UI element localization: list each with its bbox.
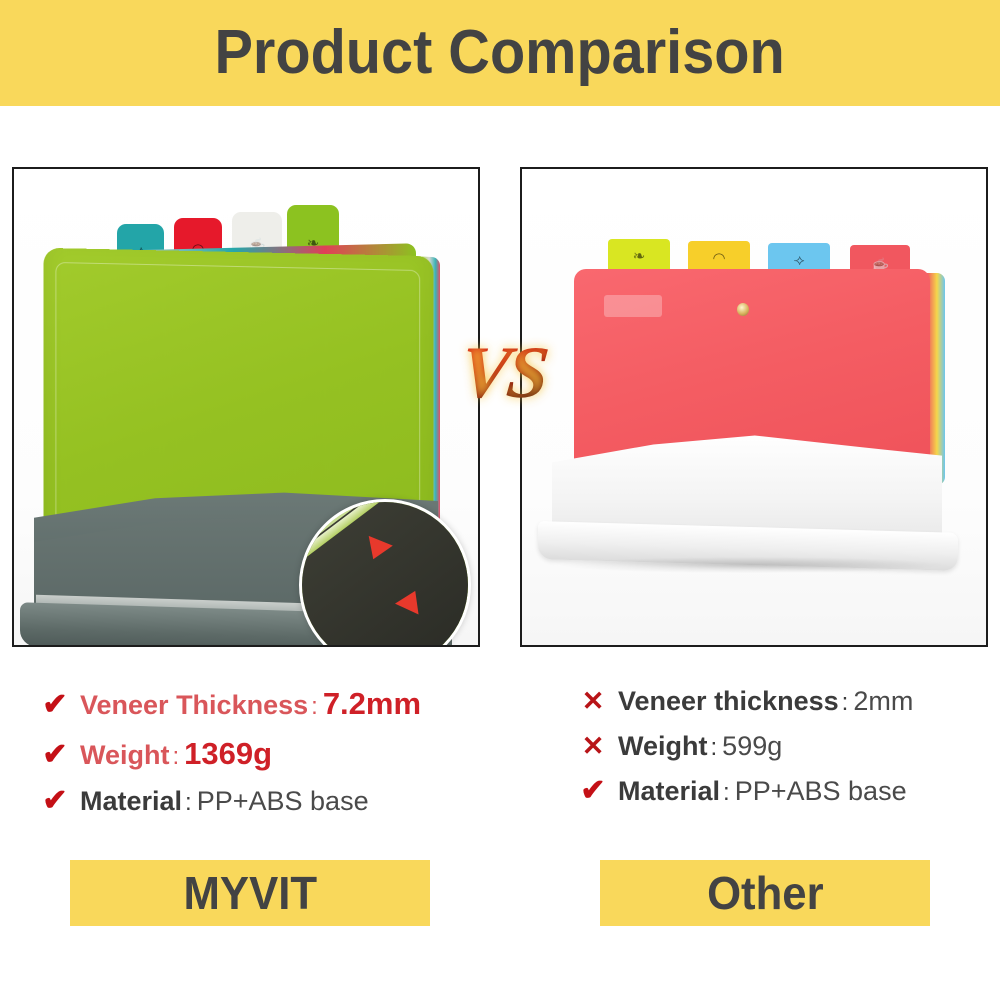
spec-label: Material: [618, 776, 720, 807]
tab-vegetable-icon-right: ❧: [608, 239, 670, 273]
cross-icon: ✕: [580, 688, 606, 715]
spec-row: ✔ Material : PP+ABS base: [42, 786, 512, 817]
spec-colon: :: [173, 743, 180, 771]
header-banner: Product Comparison: [0, 0, 1000, 106]
versus-badge: VS: [455, 318, 551, 428]
vegetable-icon: ❧: [633, 247, 646, 265]
spec-row: ✔ Veneer Thickness : 7.2mm: [42, 686, 512, 722]
spec-colon: :: [723, 779, 730, 807]
check-icon: ✔: [580, 776, 606, 806]
brand-box-other: Other: [600, 860, 930, 926]
spec-colon: :: [711, 734, 718, 762]
product-photo-left: ⟢ ◠ ☕ ❧: [12, 167, 480, 647]
spec-row: ✕ Veneer thickness : 2mm: [500, 686, 970, 717]
spec-value: PP+ABS base: [197, 786, 369, 817]
check-icon: ✔: [42, 786, 68, 816]
spec-label: Material: [80, 786, 182, 817]
photo-stage-left: ⟢ ◠ ☕ ❧: [14, 169, 478, 645]
fish-icon: ⟢: [793, 252, 804, 269]
spec-label: Weight: [80, 740, 170, 771]
spec-label: Veneer thickness: [618, 686, 839, 717]
spec-row: ✔ Material : PP+ABS base: [500, 776, 970, 807]
brand-box-myvit: MYVIT: [70, 860, 430, 926]
check-icon: ✔: [42, 690, 68, 720]
spec-label: Weight: [618, 731, 708, 762]
spec-value: PP+ABS base: [735, 776, 907, 807]
thickness-detail-magnifier: [299, 499, 471, 647]
spec-list-right: ✕ Veneer thickness : 2mm ✕ Weight : 599g…: [500, 686, 970, 821]
spec-colon: :: [311, 693, 318, 721]
spec-value: 1369g: [184, 736, 272, 772]
spec-value: 2mm: [853, 686, 913, 717]
page-title: Product Comparison: [215, 22, 785, 84]
brand-label-left: MYVIT: [183, 870, 317, 916]
cross-icon: ✕: [580, 733, 606, 760]
check-icon: ✔: [42, 740, 68, 770]
brand-label-right: Other: [707, 870, 824, 916]
board-label-patch: [604, 295, 662, 317]
spec-colon: :: [185, 789, 192, 817]
versus-label: VS: [457, 336, 549, 410]
photo-stage-right: ❧ ◠ ⟢ ☕: [522, 169, 986, 645]
board-hang-hole: [737, 303, 749, 316]
spec-colon: :: [842, 689, 849, 717]
spec-value: 7.2mm: [323, 686, 421, 722]
spec-label: Veneer Thickness: [80, 690, 308, 721]
meat-icon: ◠: [712, 249, 725, 267]
spec-row: ✕ Weight : 599g: [500, 731, 970, 762]
spec-row: ✔ Weight : 1369g: [42, 736, 512, 772]
drop-shadow-right: [562, 557, 942, 573]
product-photo-right: ❧ ◠ ⟢ ☕: [520, 167, 988, 647]
spec-list-left: ✔ Veneer Thickness : 7.2mm ✔ Weight : 13…: [42, 686, 512, 831]
spec-value: 599g: [722, 731, 782, 762]
